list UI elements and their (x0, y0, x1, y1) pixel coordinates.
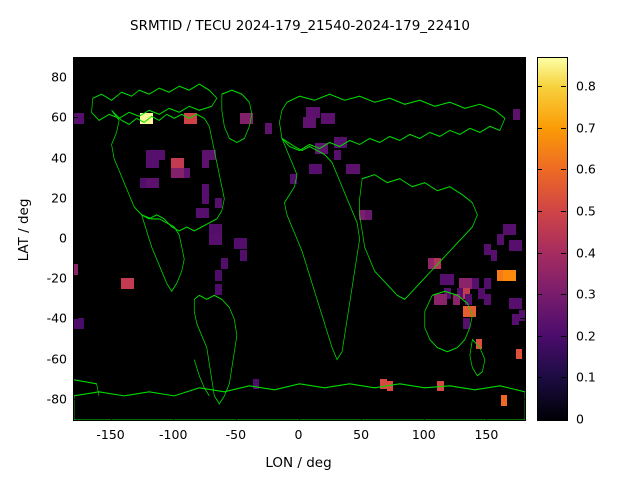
x-tick-top (236, 57, 237, 62)
colorbar-tick-label: 0.5 (576, 203, 596, 218)
x-tick (111, 415, 112, 420)
colorbar-tick (537, 253, 542, 254)
x-tick-top (424, 57, 425, 62)
y-tick-label: 0 (33, 231, 67, 246)
colorbar-tick (561, 419, 566, 420)
y-tick (73, 359, 78, 360)
y-tick-right (520, 278, 525, 279)
y-tick-right (520, 359, 525, 360)
colorbar-tick (537, 128, 542, 129)
colorbar-tick-label: 0.1 (576, 370, 596, 385)
y-tick-label: -20 (33, 271, 67, 286)
y-tick-right (520, 158, 525, 159)
colorbar-tick (537, 169, 542, 170)
colorbar-tick (561, 253, 566, 254)
y-tick (73, 77, 78, 78)
y-tick (73, 399, 78, 400)
y-tick-right (520, 318, 525, 319)
colorbar-tick (561, 294, 566, 295)
y-tick-right (520, 117, 525, 118)
page-title: SRMTID / TECU 2024-179_21540-2024-179_22… (0, 18, 600, 34)
colorbar-tick (561, 86, 566, 87)
y-tick (73, 238, 78, 239)
figure-canvas: SRMTID / TECU 2024-179_21540-2024-179_22… (0, 0, 640, 480)
y-axis-label: LAT / deg (16, 170, 32, 290)
y-tick-right (520, 77, 525, 78)
x-tick (361, 415, 362, 420)
coastline-overlay (74, 58, 525, 420)
y-tick-label: -80 (33, 391, 67, 406)
colorbar-tick (537, 377, 542, 378)
x-tick-label: 150 (474, 427, 498, 442)
x-tick-top (486, 57, 487, 62)
colorbar-tick (561, 169, 566, 170)
x-tick-top (361, 57, 362, 62)
y-tick (73, 278, 78, 279)
colorbar-tick (537, 336, 542, 337)
colorbar-tick-label: 0 (576, 412, 584, 427)
x-tick (424, 415, 425, 420)
y-tick (73, 117, 78, 118)
colorbar-tick-label: 0.7 (576, 120, 596, 135)
x-axis-label: LON / deg (73, 455, 524, 471)
colorbar-tick (561, 377, 566, 378)
y-tick (73, 198, 78, 199)
y-tick-right (520, 238, 525, 239)
colorbar-tick (537, 211, 542, 212)
colorbar-tick (537, 86, 542, 87)
colorbar-tick (537, 419, 542, 420)
y-tick-label: -60 (33, 351, 67, 366)
y-tick-right (520, 198, 525, 199)
y-tick (73, 158, 78, 159)
colorbar-tick (537, 294, 542, 295)
x-tick-label: -150 (96, 427, 124, 442)
y-tick-label: 60 (33, 110, 67, 125)
x-tick (486, 415, 487, 420)
x-tick-top (173, 57, 174, 62)
x-tick-top (299, 57, 300, 62)
colorbar-tick-label: 0.3 (576, 287, 596, 302)
x-tick-label: 0 (295, 427, 303, 442)
colorbar-tick (561, 211, 566, 212)
colorbar[interactable] (537, 57, 568, 421)
x-tick-label: 50 (353, 427, 369, 442)
colorbar-tick-label: 0.6 (576, 162, 596, 177)
colorbar-tick (561, 336, 566, 337)
y-tick-label: 40 (33, 150, 67, 165)
x-tick-label: 100 (412, 427, 436, 442)
x-tick (236, 415, 237, 420)
x-tick (299, 415, 300, 420)
colorbar-tick-label: 0.4 (576, 245, 596, 260)
x-tick-label: -50 (226, 427, 246, 442)
x-tick (173, 415, 174, 420)
y-tick (73, 318, 78, 319)
colorbar-tick (561, 128, 566, 129)
colorbar-tick-label: 0.8 (576, 79, 596, 94)
y-tick-label: 20 (33, 190, 67, 205)
colorbar-tick-label: 0.2 (576, 328, 596, 343)
x-tick-top (111, 57, 112, 62)
y-tick-right (520, 399, 525, 400)
x-tick-label: -100 (159, 427, 187, 442)
map-plot-area[interactable] (73, 57, 526, 421)
y-tick-label: 80 (33, 70, 67, 85)
y-tick-label: -40 (33, 311, 67, 326)
